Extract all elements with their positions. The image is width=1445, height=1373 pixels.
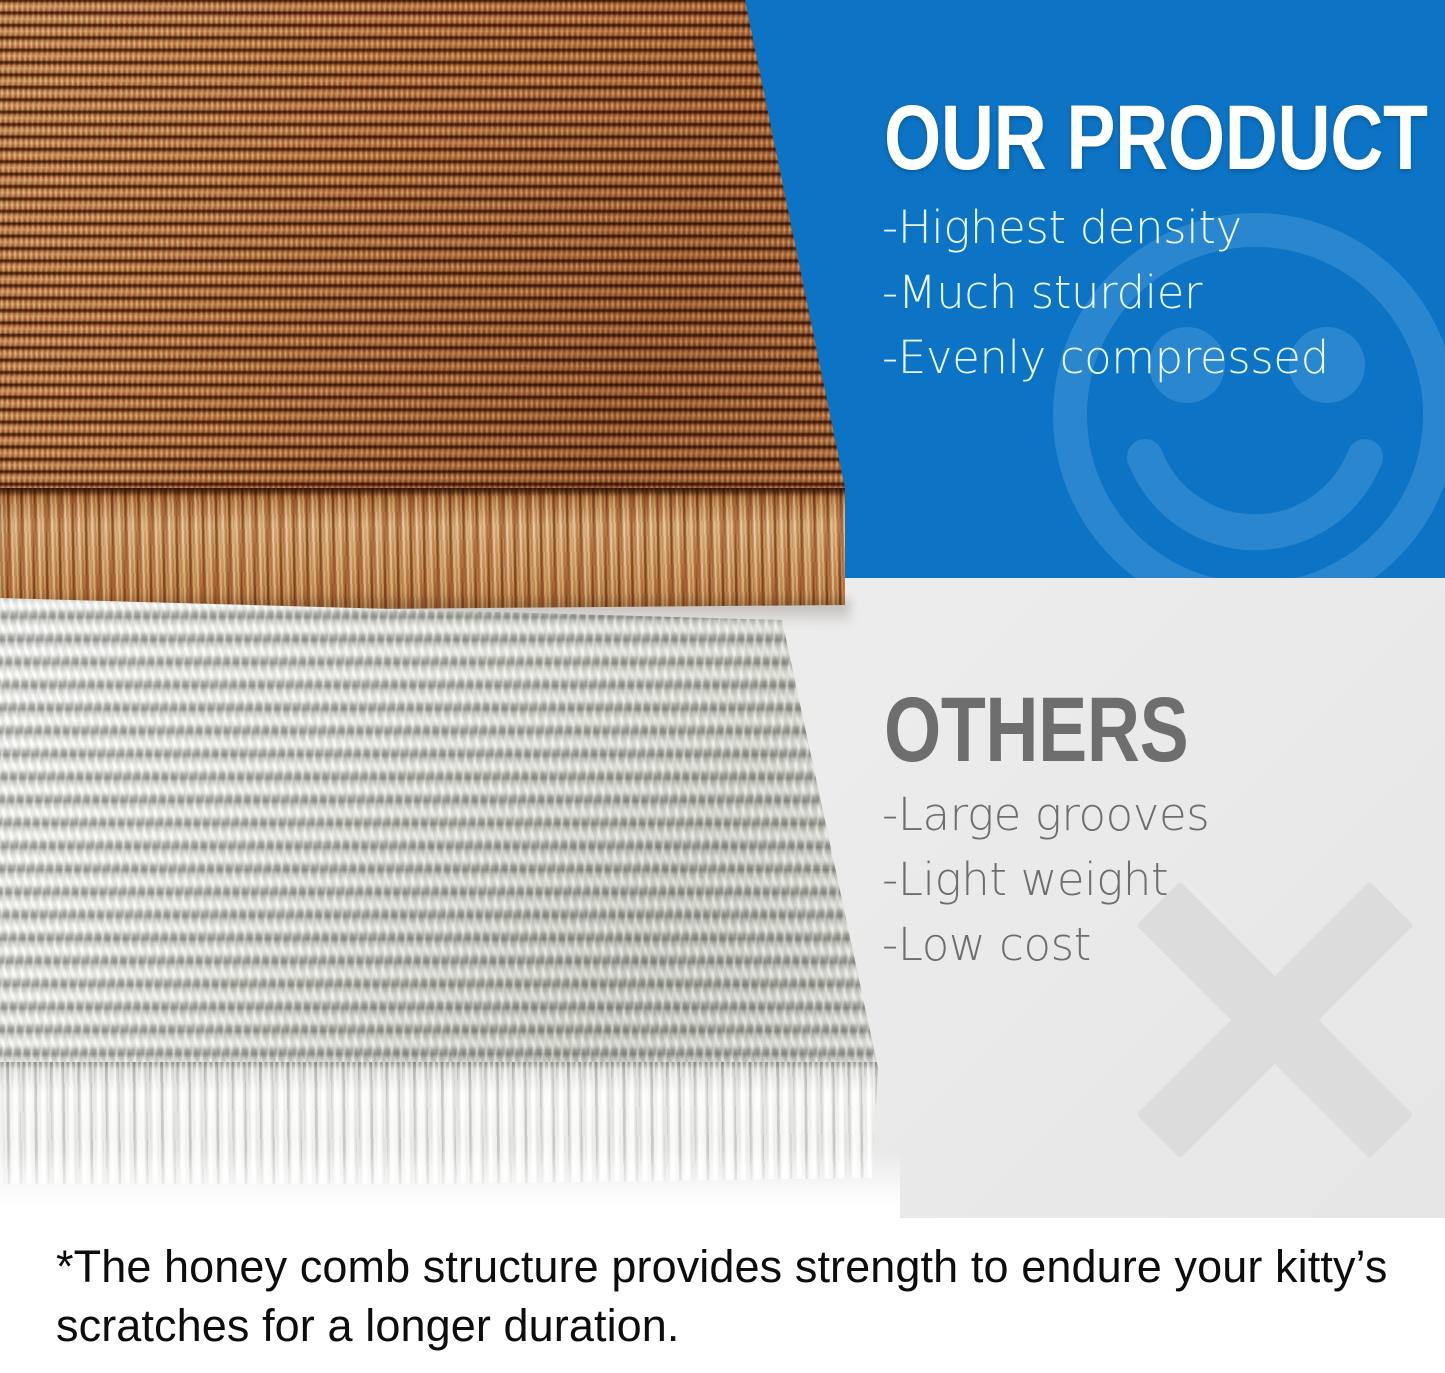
our-product-feature-list: -Highest density -Much sturdier -Evenly …	[882, 205, 1329, 381]
product-comparison-infographic: OUR PRODUCT OTHERS -Highest density -Muc…	[0, 0, 1445, 1373]
others-feature-item: -Large grooves	[882, 792, 1209, 838]
others-feature-item: -Low cost	[882, 922, 1209, 968]
our-product-heading: OUR PRODUCT	[884, 92, 1428, 184]
our-product-feature-item: -Much sturdier	[882, 270, 1329, 316]
tan-honeycomb-front-edge	[0, 488, 860, 612]
others-heading: OTHERS	[884, 684, 1188, 776]
tan-honeycomb-top-surface	[0, 0, 860, 492]
others-feature-list: -Large grooves -Light weight -Low cost	[882, 792, 1209, 968]
our-product-feature-item: -Evenly compressed	[882, 335, 1329, 381]
our-product-material-photo	[0, 0, 860, 612]
white-slab-fade-out	[0, 1150, 900, 1222]
footnote-text: *The honey comb structure provides stren…	[56, 1238, 1396, 1355]
our-product-feature-item: -Highest density	[882, 205, 1329, 251]
others-material-photo	[0, 598, 900, 1198]
others-feature-item: -Light weight	[882, 857, 1209, 903]
white-honeycomb-top-surface	[0, 598, 900, 1066]
